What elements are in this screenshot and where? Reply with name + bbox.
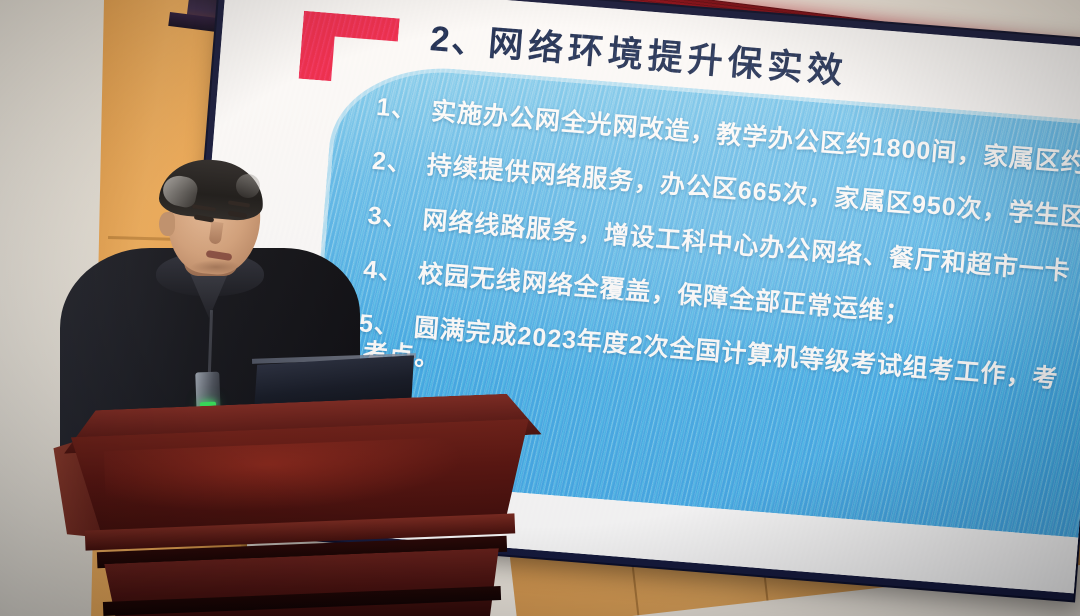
bullet-text: 校园无线网络全覆盖，保障全部正常运维； bbox=[417, 260, 912, 328]
presenter-ear bbox=[159, 212, 175, 236]
lectern bbox=[45, 398, 555, 616]
slide-title-number: 2、 bbox=[429, 19, 490, 63]
presenter-chin-shadow bbox=[190, 260, 242, 274]
bullet-index: 2、 bbox=[371, 147, 414, 178]
presentation-photo-scene: 干部门 2、网络环境提升保实效 1、实施办公网全光网改造，教学办公区约1800间… bbox=[0, 0, 1080, 616]
red-corner-bracket-icon bbox=[299, 11, 400, 86]
bullet-index: 1、 bbox=[375, 93, 418, 124]
bullet-index: 3、 bbox=[367, 201, 410, 232]
presenter-gray-hair-patch-2 bbox=[236, 174, 260, 198]
